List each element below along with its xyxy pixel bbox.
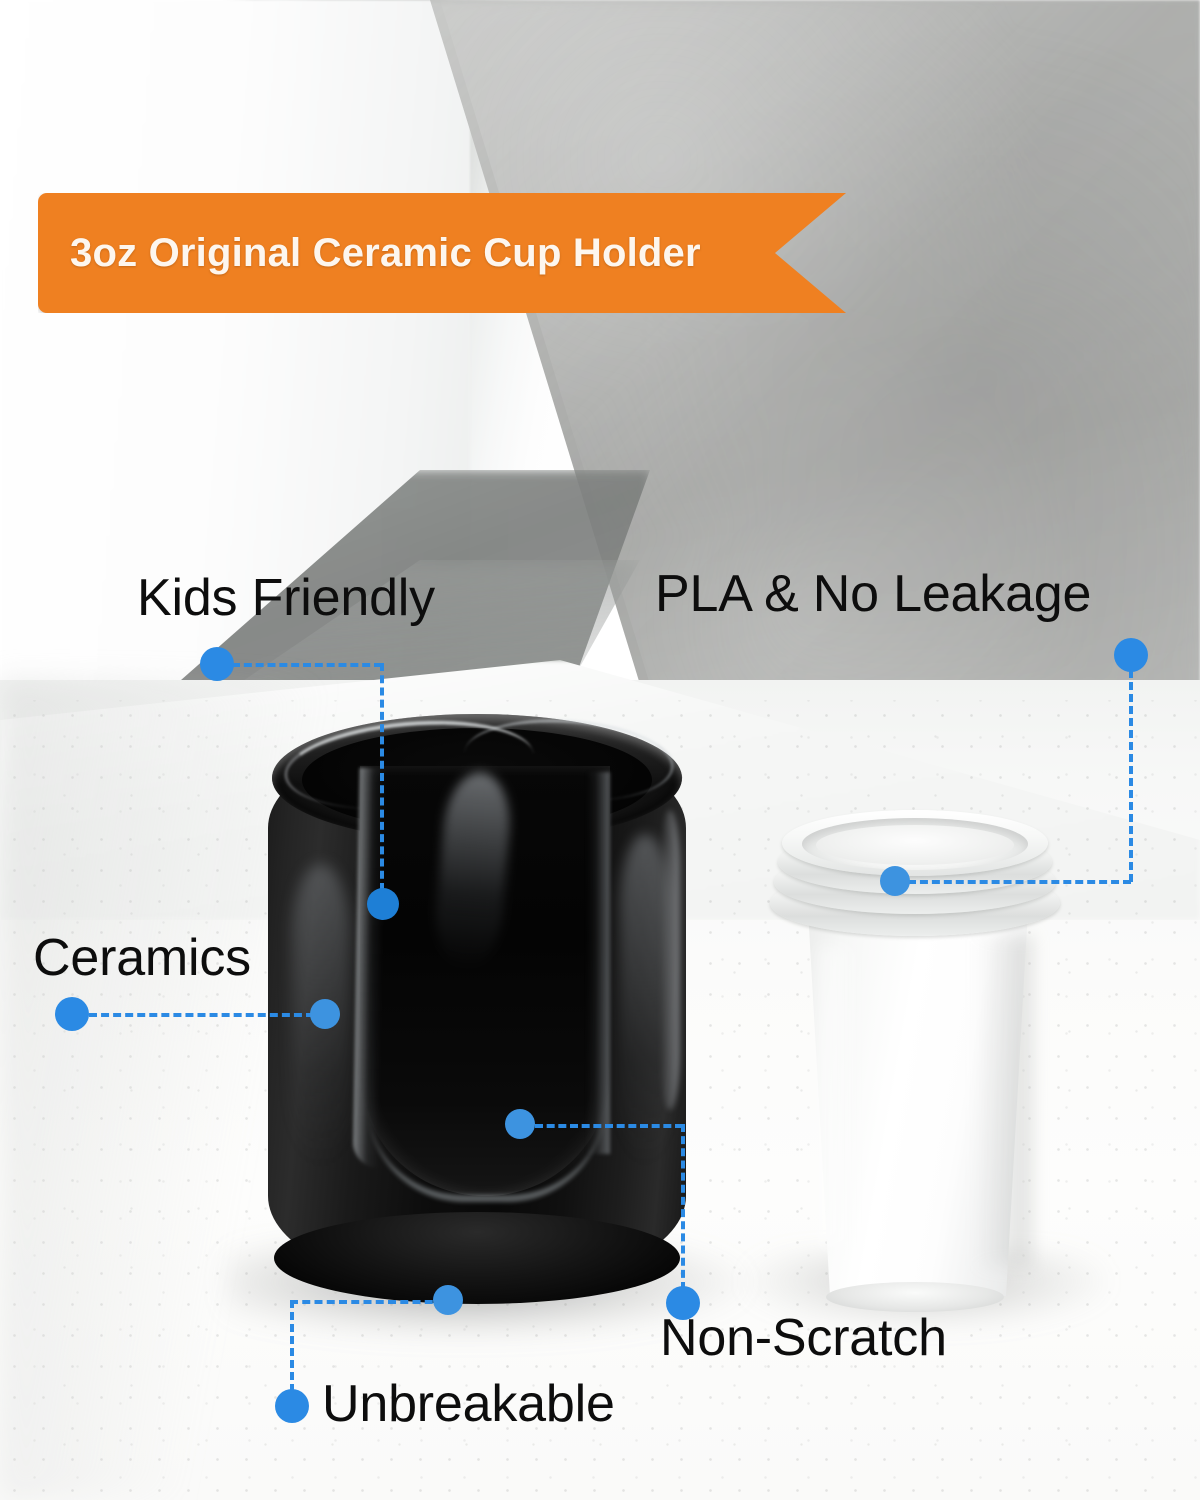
callout-label-pla-no-leakage: PLA & No Leakage bbox=[655, 568, 1091, 620]
callout-line-v-unbreakable bbox=[290, 1300, 294, 1392]
callout-label-ceramics: Ceramics bbox=[33, 932, 251, 984]
callout-anchor-dot-unbreakable[interactable] bbox=[433, 1285, 463, 1315]
callout-anchor-dot-ceramics[interactable] bbox=[310, 999, 340, 1029]
cup-shading bbox=[976, 936, 1032, 1266]
holder-edge-sheen bbox=[660, 810, 680, 1110]
callout-marker-dot-pla-no-leakage[interactable] bbox=[1114, 638, 1148, 672]
callout-line-h-kids-friendly bbox=[232, 663, 382, 667]
callout-marker-dot-unbreakable[interactable] bbox=[275, 1389, 309, 1423]
callout-anchor-dot-pla-no-leakage[interactable] bbox=[880, 866, 910, 896]
callout-line-h-unbreakable bbox=[290, 1300, 445, 1304]
callout-anchor-dot-non-scratch[interactable] bbox=[505, 1109, 535, 1139]
callout-label-kids-friendly: Kids Friendly bbox=[137, 572, 435, 624]
cup-highlight bbox=[820, 946, 864, 1246]
callout-line-h-non-scratch bbox=[535, 1124, 683, 1128]
callout-line-v-pla-no-leakage bbox=[1129, 670, 1133, 882]
banner-title: 3oz Original Ceramic Cup Holder bbox=[70, 231, 701, 276]
callout-marker-dot-non-scratch[interactable] bbox=[666, 1286, 700, 1320]
callout-marker-dot-ceramics[interactable] bbox=[55, 997, 89, 1031]
callout-label-unbreakable: Unbreakable bbox=[322, 1378, 615, 1430]
callout-marker-dot-kids-friendly[interactable] bbox=[200, 647, 234, 681]
callout-line-v-non-scratch bbox=[681, 1124, 685, 1290]
title-ribbon-banner: 3oz Original Ceramic Cup Holder bbox=[38, 193, 846, 313]
cup-interior bbox=[816, 825, 1014, 865]
cutout-edge-right bbox=[586, 772, 610, 1154]
callout-anchor-dot-kids-friendly[interactable] bbox=[367, 888, 399, 920]
cup-base bbox=[826, 1282, 1004, 1312]
callout-line-v-kids-friendly bbox=[380, 663, 384, 891]
callout-line-h-ceramics bbox=[89, 1013, 314, 1017]
callout-line-h-pla-no-leakage bbox=[908, 880, 1131, 884]
callout-label-non-scratch: Non-Scratch bbox=[660, 1312, 947, 1364]
holder-base bbox=[274, 1212, 680, 1304]
product-infographic: 3oz Original Ceramic Cup Holder Kids Fri… bbox=[0, 0, 1200, 1500]
